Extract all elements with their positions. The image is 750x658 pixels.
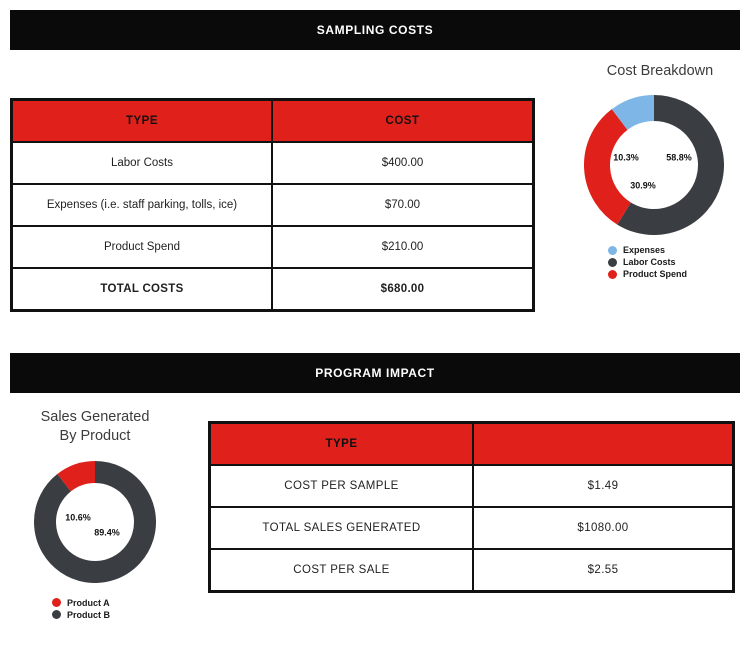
legend-item: Product Spend (608, 269, 740, 280)
cell-cost: $70.00 (272, 184, 534, 226)
sales-by-product-chart: Sales Generated By Product 89.4% 10.6% P… (20, 408, 170, 620)
donut-slice-product-spend (597, 119, 624, 213)
table-header-row: TYPE (210, 423, 734, 466)
donut-slice-group (45, 472, 145, 572)
slice-label-labor-costs: 58.8% (666, 152, 692, 162)
slice-label-expenses: 10.3% (613, 152, 639, 162)
program-impact-table: TYPE COST PER SAMPLE $1.49 TOTAL SALES G… (208, 421, 735, 593)
cell-type: Product Spend (12, 226, 272, 268)
chart-legend: Product A Product B (52, 597, 170, 620)
legend-color-swatch-product-a (52, 598, 61, 607)
section-banner-sampling-costs: SAMPLING COSTS (10, 10, 740, 50)
column-header-cost: COST (272, 100, 534, 143)
column-header-type: TYPE (210, 423, 474, 466)
section-banner-label: SAMPLING COSTS (317, 23, 433, 37)
legend-item: Product A (52, 597, 170, 608)
legend-color-swatch-product-spend (608, 270, 617, 279)
table-row: TOTAL SALES GENERATED $1080.00 (210, 507, 734, 549)
sampling-costs-table: TYPE COST Labor Costs $400.00 Expenses (… (10, 98, 535, 312)
chart-title-line-2: By Product (20, 427, 170, 446)
cell-cost: $210.00 (272, 226, 534, 268)
column-header-value (473, 423, 734, 466)
donut-svg: 89.4% 10.6% (34, 461, 156, 583)
chart-legend: Expenses Labor Costs Product Spend (608, 245, 740, 280)
legend-item: Labor Costs (608, 257, 740, 268)
cell-type: Expenses (i.e. staff parking, tolls, ice… (12, 184, 272, 226)
table-row: Labor Costs $400.00 (12, 142, 534, 184)
donut-svg: 58.8% 30.9% 10.3% (584, 95, 724, 235)
donut-slice-expenses (620, 108, 654, 120)
legend-label: Product A (67, 598, 110, 608)
cell-cost: $400.00 (272, 142, 534, 184)
legend-label: Expenses (623, 245, 665, 255)
donut-slice-product-b (45, 472, 145, 572)
table-row: COST PER SALE $2.55 (210, 549, 734, 592)
table-row: Expenses (i.e. staff parking, tolls, ice… (12, 184, 534, 226)
table-row: Product Spend $210.00 (12, 226, 534, 268)
cost-breakdown-chart: Cost Breakdown 58.8% 30.9% 10.3% Expense… (580, 62, 740, 280)
legend-item: Expenses (608, 245, 740, 256)
cell-type: COST PER SALE (210, 549, 474, 592)
cell-value: $2.55 (473, 549, 734, 592)
legend-color-swatch-expenses (608, 246, 617, 255)
cell-cost: $680.00 (272, 268, 534, 311)
chart-title: Sales Generated By Product (20, 408, 170, 445)
cell-value: $1.49 (473, 465, 734, 507)
legend-label: Labor Costs (623, 257, 676, 267)
donut-slice-group (597, 108, 711, 222)
table-row: COST PER SAMPLE $1.49 (210, 465, 734, 507)
donut-slice-product-a (64, 472, 95, 483)
legend-item: Product B (52, 609, 170, 620)
table-row-total: TOTAL COSTS $680.00 (12, 268, 534, 311)
slice-label-product-spend: 30.9% (630, 180, 656, 190)
cell-type: Labor Costs (12, 142, 272, 184)
section-banner-label: PROGRAM IMPACT (315, 366, 435, 380)
cell-type: TOTAL COSTS (12, 268, 272, 311)
donut-slice-labor-costs (624, 108, 711, 222)
legend-color-swatch-product-b (52, 610, 61, 619)
donut-chart-cost-breakdown: 58.8% 30.9% 10.3% (584, 95, 740, 235)
legend-label: Product B (67, 610, 110, 620)
donut-chart-sales-by-product: 89.4% 10.6% (34, 461, 170, 583)
chart-title: Cost Breakdown (580, 62, 740, 81)
chart-title-line-1: Sales Generated (20, 408, 170, 427)
cell-value: $1080.00 (473, 507, 734, 549)
table-header-row: TYPE COST (12, 100, 534, 143)
column-header-type: TYPE (12, 100, 272, 143)
slice-label-product-b: 89.4% (94, 527, 120, 537)
cell-type: COST PER SAMPLE (210, 465, 474, 507)
legend-color-swatch-labor-costs (608, 258, 617, 267)
section-banner-program-impact: PROGRAM IMPACT (10, 353, 740, 393)
legend-label: Product Spend (623, 269, 687, 279)
slice-label-product-a: 10.6% (65, 512, 91, 522)
cell-type: TOTAL SALES GENERATED (210, 507, 474, 549)
